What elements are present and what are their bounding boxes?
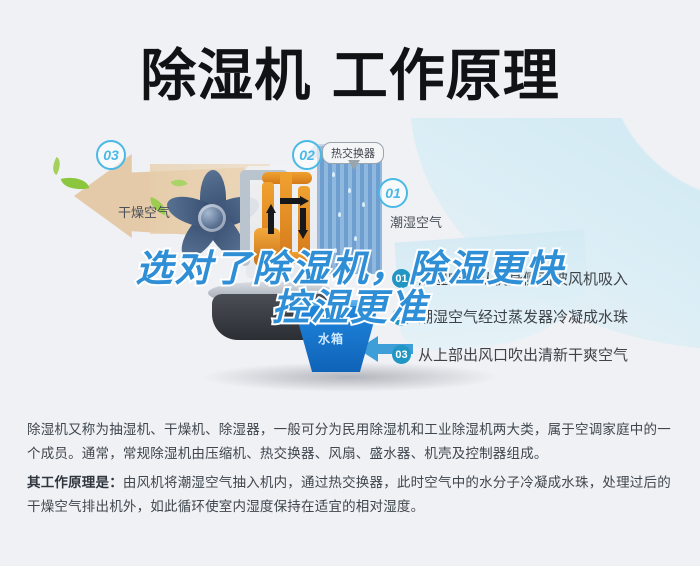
caption-item-01: 01 潮湿空气从机身侧面被风机吸入	[392, 268, 628, 289]
caption-item-03: 03 从上部出风口吹出清新干爽空气	[392, 344, 628, 365]
evaporator-fins	[320, 152, 382, 274]
infographic-page: 除湿机 工作原理	[0, 0, 700, 566]
flow-arrow-stem	[280, 198, 300, 204]
flow-arrow-right-icon	[300, 196, 309, 206]
leaf-icon	[49, 157, 65, 175]
water-tank-label: 水箱	[318, 330, 378, 347]
flow-arrow-down-icon	[298, 230, 308, 239]
caption-badge-02: 02	[392, 307, 411, 326]
flow-arrow-up-icon	[266, 204, 276, 213]
humid-air-flow-band-secondary	[394, 230, 591, 353]
flow-arrow-stem	[300, 208, 306, 230]
callout-badge-02: 02	[292, 140, 322, 170]
page-title: 除湿机 工作原理	[0, 28, 700, 114]
caption-text-03: 从上部出风口吹出清新干爽空气	[418, 344, 628, 365]
caption-item-02: 02 潮湿空气经过蒸发器冷凝成水珠	[392, 306, 628, 327]
body-paragraph-2-text: 由风机将潮湿空气抽入机内，通过热交换器，此时空气中的水分子冷凝成水珠，处理过后的…	[27, 475, 671, 514]
caption-text-02: 潮湿空气经过蒸发器冷凝成水珠	[418, 306, 628, 327]
body-copy: 除湿机又称为抽湿机、干燥机、除湿器，一般可分为民用除湿机和工业除湿机两大类，属于…	[27, 418, 675, 525]
condenser-coil	[280, 172, 292, 264]
compressor-icon	[254, 228, 280, 266]
flow-arrow-stem	[268, 212, 274, 234]
callout-bubble-tail	[348, 160, 360, 170]
dehumidifier-diagram: 水箱 03 干燥空气 02 热交换器 01 潮湿空气 01 潮湿空气从机身侧面被…	[0, 118, 700, 408]
callout-label-humid-air: 潮湿空气	[390, 212, 442, 231]
callout-label-dry-air: 干燥空气	[118, 202, 170, 221]
machine-internals	[246, 142, 398, 302]
caption-text-01: 潮湿空气从机身侧面被风机吸入	[418, 268, 628, 289]
caption-badge-03: 03	[392, 345, 411, 364]
body-paragraph-2: 其工作原理是：由风机将潮湿空气抽入机内，通过热交换器，此时空气中的水分子冷凝成水…	[27, 471, 675, 518]
callout-badge-03: 03	[96, 140, 126, 170]
body-paragraph-2-label: 其工作原理是：	[27, 475, 123, 490]
caption-badge-01: 01	[392, 269, 411, 288]
callout-badge-01: 01	[378, 178, 408, 208]
body-paragraph-1: 除湿机又称为抽湿机、干燥机、除湿器，一般可分为民用除湿机和工业除湿机两大类，属于…	[27, 418, 675, 465]
page-title-text: 除湿机 工作原理	[140, 31, 560, 112]
refrigerant-pipe	[240, 170, 250, 266]
